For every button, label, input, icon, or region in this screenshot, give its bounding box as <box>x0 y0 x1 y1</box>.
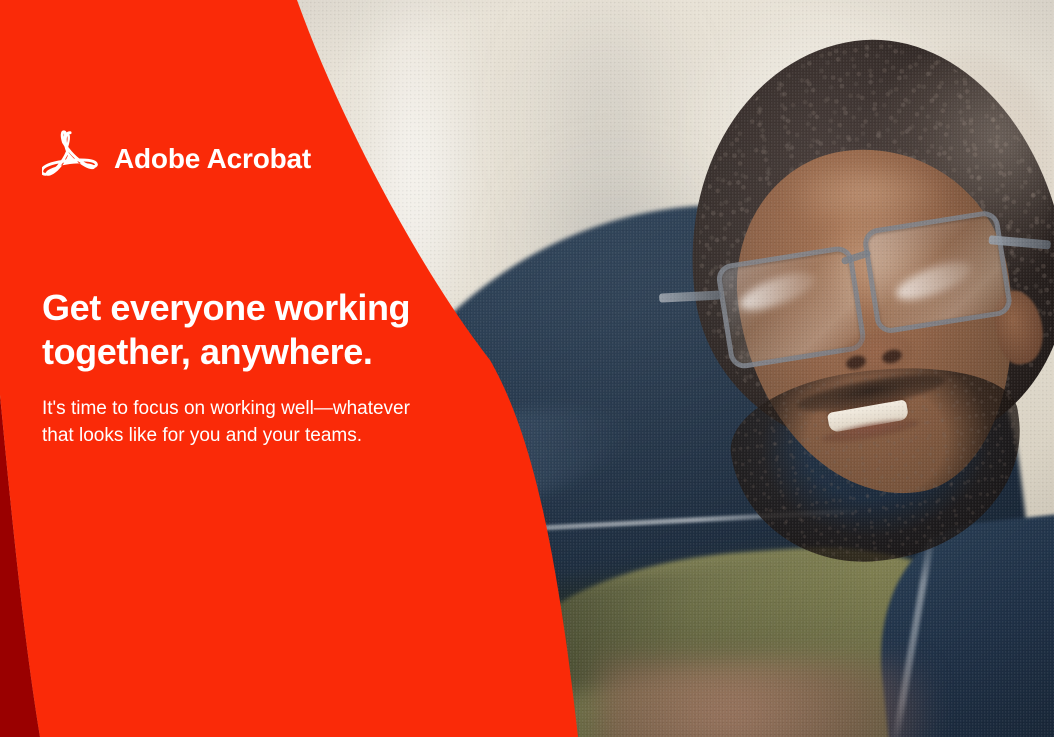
brand-name: Adobe Acrobat <box>114 145 311 173</box>
acrobat-marketing-banner: Adobe Acrobat Get everyone working toget… <box>0 0 1054 737</box>
headline: Get everyone working together, anywhere. <box>42 286 472 374</box>
foreground-hand-blur <box>600 660 930 737</box>
person-head <box>690 40 1050 510</box>
eyeglass-temple-left <box>659 290 721 302</box>
banner-content: Adobe Acrobat Get everyone working toget… <box>0 0 560 737</box>
subheadline: It's time to focus on working well—whate… <box>42 396 442 450</box>
adobe-acrobat-logo-icon <box>42 130 100 188</box>
brand-lockup: Adobe Acrobat <box>42 130 311 188</box>
